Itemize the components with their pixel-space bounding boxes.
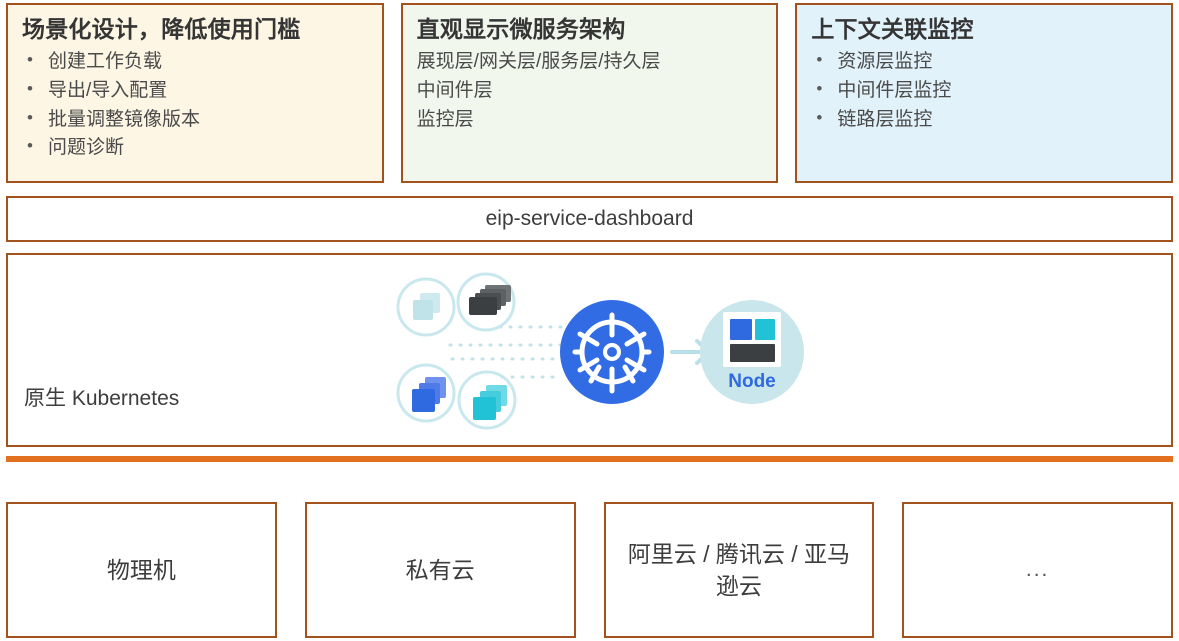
infra-box-public-cloud: 阿里云 / 腾讯云 / 亚马逊云 [604,502,875,638]
list-item-label: 中间件层监控 [837,80,951,101]
dashboard-bar-label: eip-service-dashboard [486,207,694,231]
infra-box-label: 物理机 [107,554,176,586]
infra-box-label: ... [1026,555,1050,584]
list-item-label: 导出/导入配置 [48,80,167,101]
kubernetes-helm-icon [560,300,664,404]
list-item: •资源层监控 [811,48,1157,77]
feature-card-list: •创建工作负载 •导出/导入配置 •批量调整镜像版本 •问题诊断 [22,48,368,164]
feature-card-list: 展现层/网关层/服务层/持久层 中间件层 监控层 [417,48,763,135]
list-item: •导出/导入配置 [22,77,368,106]
connector-lines [450,327,562,377]
bullet-icon: • [27,105,33,131]
infra-box-label: 阿里云 / 腾讯云 / 亚马逊云 [620,538,859,602]
infrastructure-row: 物理机 私有云 阿里云 / 腾讯云 / 亚马逊云 ... [6,502,1173,638]
feature-cards-row: 场景化设计，降低使用门槛 •创建工作负载 •导出/导入配置 •批量调整镜像版本 … [6,3,1173,183]
teal-stack-icon [459,372,515,428]
bullet-icon: • [27,133,33,159]
dark-stack-icon [458,274,514,330]
list-item-label: 资源层监控 [837,51,932,72]
feature-card-title: 上下文关联监控 [811,15,1157,44]
list-item: 中间件层 [417,77,763,106]
list-item: •链路层监控 [811,106,1157,135]
list-item: •中间件层监控 [811,77,1157,106]
feature-card-monitoring: 上下文关联监控 •资源层监控 •中间件层监控 •链路层监控 [795,3,1173,183]
diagram-canvas: 场景化设计，降低使用门槛 •创建工作负载 •导出/导入配置 •批量调整镜像版本 … [0,0,1179,641]
blue-stack-icon [398,365,454,421]
node-label: Node [728,371,776,392]
list-item: 展现层/网关层/服务层/持久层 [417,48,763,77]
bullet-icon: • [27,76,33,102]
pale-stack-icon [398,279,454,335]
bullet-icon: • [27,47,33,73]
infra-box-private-cloud: 私有云 [305,502,576,638]
feature-card-microservice: 直观显示微服务架构 展现层/网关层/服务层/持久层 中间件层 监控层 [401,3,779,183]
list-item: •批量调整镜像版本 [22,106,368,135]
list-item: 监控层 [417,106,763,135]
list-item-label: 创建工作负载 [48,51,162,72]
feature-card-title: 直观显示微服务架构 [417,15,763,44]
list-item: •问题诊断 [22,134,368,163]
section-divider [6,456,1173,462]
infra-box-label: 私有云 [406,554,475,586]
bullet-icon: • [816,47,822,73]
dashboard-bar: eip-service-dashboard [6,196,1173,242]
feature-card-scenario: 场景化设计，降低使用门槛 •创建工作负载 •导出/导入配置 •批量调整镜像版本 … [6,3,384,183]
list-item-label: 批量调整镜像版本 [48,109,200,130]
list-item: •创建工作负载 [22,48,368,77]
node-icon: Node [700,300,804,404]
kubernetes-panel: 原生 Kubernetes [6,253,1173,447]
list-item-label: 问题诊断 [48,137,124,158]
kubernetes-panel-label: 原生 Kubernetes [24,382,179,412]
bullet-icon: • [816,105,822,131]
infra-box-more: ... [902,502,1173,638]
kubernetes-diagram: Node [380,267,810,433]
feature-card-list: •资源层监控 •中间件层监控 •链路层监控 [811,48,1157,135]
list-item-label: 链路层监控 [837,109,932,130]
bullet-icon: • [816,76,822,102]
feature-card-title: 场景化设计，降低使用门槛 [22,15,368,44]
infra-box-physical-machine: 物理机 [6,502,277,638]
